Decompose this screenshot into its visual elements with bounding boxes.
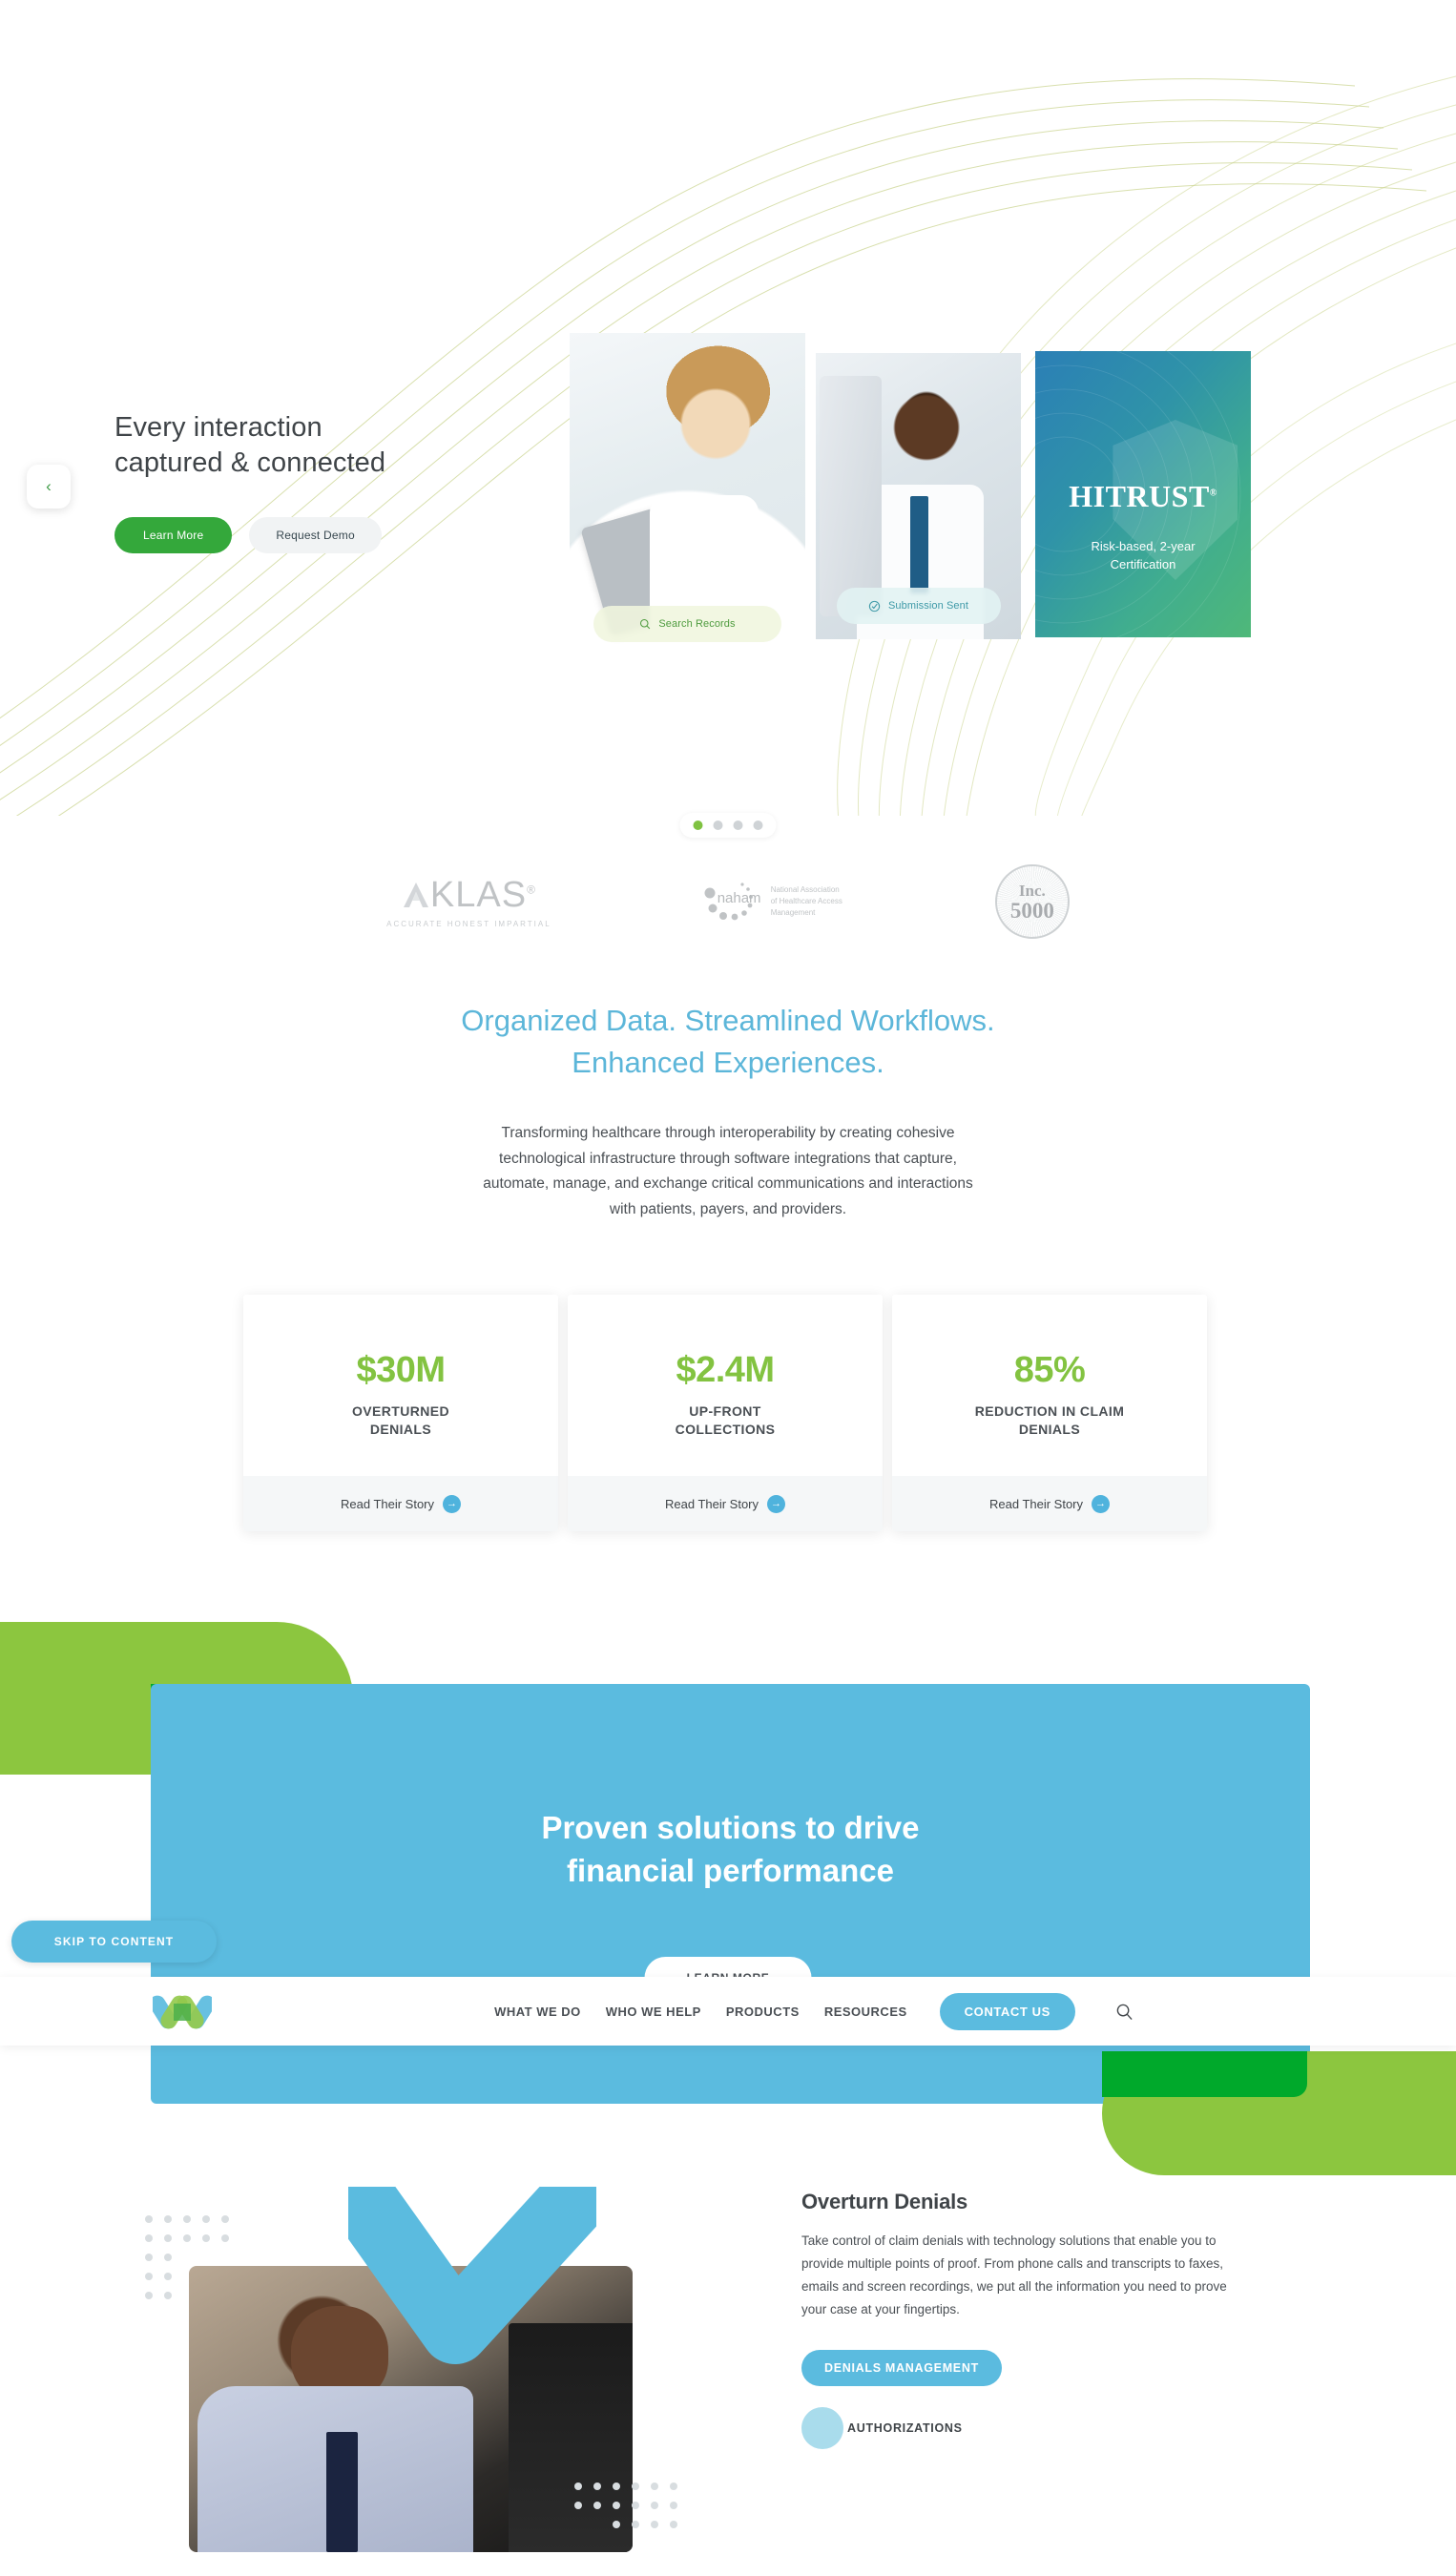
search-records-label: Search Records: [658, 618, 735, 630]
partner-logos: KLAS® ACCURATE HONEST IMPARTIAL naham: [0, 840, 1456, 964]
tag-authorizations-label: AUTHORIZATIONS: [819, 2421, 963, 2435]
stat-cards: $30M OVERTURNED DENIALS Read Their Story…: [243, 1295, 1207, 1531]
stat-card[interactable]: $30M OVERTURNED DENIALS Read Their Story…: [243, 1295, 558, 1531]
decorative-green-shape-bottom-right: [1102, 2051, 1307, 2097]
inc-line2: 5000: [1010, 901, 1054, 922]
homepage: Every interaction captured & connected L…: [0, 0, 1456, 2576]
overturn-denials-tags: DENIALS MANAGEMENT AUTHORIZATIONS: [801, 2350, 1236, 2449]
agent-tie: [326, 2432, 358, 2552]
stat-cta-label: Read Their Story: [341, 1497, 434, 1511]
skip-to-content-button[interactable]: SKIP TO CONTENT: [11, 1921, 217, 1963]
stat-number: 85%: [1014, 1350, 1086, 1391]
stat-card-body: 85% REDUCTION IN CLAIM DENIALS: [892, 1295, 1207, 1476]
monitor-edge: [820, 376, 882, 616]
stat-number: $30M: [356, 1350, 445, 1391]
section-headline: Organized Data. Streamlined Workflows. E…: [0, 1000, 1456, 1084]
klas-peak-icon: [402, 880, 430, 910]
naham-logo: naham National Association of Healthcare…: [704, 880, 842, 924]
inc5000-logo: Inc. 5000: [995, 864, 1070, 939]
search-icon[interactable]: [1115, 2003, 1134, 2021]
carousel-dot-2[interactable]: [714, 821, 723, 830]
tag-authorizations[interactable]: AUTHORIZATIONS: [801, 2407, 963, 2449]
nav-links: WHAT WE DO WHO WE HELP PRODUCTS RESOURCE…: [172, 1977, 1456, 2046]
stat-cta-label: Read Their Story: [665, 1497, 759, 1511]
stat-card-cta[interactable]: Read Their Story →: [243, 1476, 558, 1531]
hitrust-wordmark: HITRUST®: [1035, 479, 1251, 514]
search-icon: [639, 618, 651, 630]
stat-card-cta[interactable]: Read Their Story →: [568, 1476, 883, 1531]
naham-wordmark: naham: [718, 890, 761, 906]
nav-item-what-we-do[interactable]: WHAT WE DO: [494, 2005, 581, 2019]
checkmark-icon: [348, 2187, 596, 2397]
arrow-right-icon: →: [767, 1495, 785, 1513]
hitrust-name-text: HITRUST: [1069, 479, 1210, 513]
hero-buttons: Learn More Request Demo: [114, 517, 515, 553]
stat-card-body: $30M OVERTURNED DENIALS: [243, 1295, 558, 1476]
stat-label: REDUCTION IN CLAIM DENIALS: [975, 1402, 1125, 1439]
hero-text-block: Every interaction captured & connected L…: [114, 410, 515, 553]
stat-label: OVERTURNED DENIALS: [352, 1402, 449, 1439]
overturn-denials-text: Overturn Denials Take control of claim d…: [801, 2190, 1236, 2449]
klas-trademark: ®: [527, 883, 536, 896]
overturn-denials-body: Take control of claim denials with techn…: [801, 2230, 1236, 2321]
carousel-prev-button[interactable]: ‹: [27, 465, 71, 509]
nav-item-who-we-help[interactable]: WHO WE HELP: [606, 2005, 701, 2019]
naham-description: National Association of Healthcare Acces…: [771, 884, 842, 919]
check-circle-icon: [868, 600, 881, 613]
klas-text: KLAS: [430, 875, 527, 915]
contact-us-button[interactable]: CONTACT US: [940, 1993, 1075, 2030]
arrow-right-icon: →: [443, 1495, 461, 1513]
carousel-dot-4[interactable]: [754, 821, 763, 830]
hero-slide-submission-sent[interactable]: Submission Sent: [816, 353, 1021, 639]
stat-cta-label: Read Their Story: [989, 1497, 1083, 1511]
submission-sent-pill: Submission Sent: [837, 588, 1001, 624]
section-paragraph: Transforming healthcare through interope…: [346, 1121, 1110, 1223]
stat-card[interactable]: $2.4M UP-FRONT COLLECTIONS Read Their St…: [568, 1295, 883, 1531]
naham-dots-mark: naham: [704, 880, 759, 924]
arrow-right-icon: →: [1092, 1495, 1110, 1513]
decorative-dot-grid-bottom-right: [572, 2481, 697, 2547]
submission-sent-label: Submission Sent: [888, 600, 968, 612]
carousel-dots[interactable]: [680, 813, 777, 838]
stat-label: UP-FRONT COLLECTIONS: [676, 1402, 776, 1439]
hero-section: Every interaction captured & connected L…: [0, 0, 1456, 816]
hero-title: Every interaction captured & connected: [114, 410, 515, 481]
klas-tagline: ACCURATE HONEST IMPARTIAL: [386, 920, 551, 928]
nav-item-resources[interactable]: RESOURCES: [824, 2005, 907, 2019]
search-records-pill: Search Records: [593, 606, 782, 642]
carousel-dot-1[interactable]: [694, 821, 703, 830]
hitrust-subtitle: Risk-based, 2-year Certification: [1035, 538, 1251, 574]
main-navigation: WHAT WE DO WHO WE HELP PRODUCTS RESOURCE…: [0, 1977, 1456, 2046]
hitrust-card: HITRUST® Risk-based, 2-year Certificatio…: [1035, 351, 1251, 637]
klas-logo: KLAS® ACCURATE HONEST IMPARTIAL: [386, 875, 551, 928]
stat-card-body: $2.4M UP-FRONT COLLECTIONS: [568, 1295, 883, 1476]
hero-slide-search-records[interactable]: Search Records: [570, 333, 805, 657]
hero-slide-hitrust[interactable]: HITRUST® Risk-based, 2-year Certificatio…: [1035, 351, 1251, 637]
overturn-denials-title: Overturn Denials: [801, 2190, 1236, 2214]
klas-wordmark: KLAS®: [402, 875, 536, 916]
tag-denials-management[interactable]: DENIALS MANAGEMENT: [801, 2350, 1002, 2386]
inc-line1: Inc.: [1019, 882, 1046, 901]
nav-item-products[interactable]: PRODUCTS: [726, 2005, 800, 2019]
proven-solutions-title: Proven solutions to drive financial perf…: [151, 1807, 1310, 1892]
learn-more-button[interactable]: Learn More: [114, 517, 232, 553]
request-demo-button[interactable]: Request Demo: [249, 517, 381, 553]
stat-number: $2.4M: [676, 1350, 774, 1391]
stat-card-cta[interactable]: Read Their Story →: [892, 1476, 1207, 1531]
carousel-dot-3[interactable]: [734, 821, 743, 830]
hitrust-trademark: ®: [1210, 488, 1217, 498]
stat-card[interactable]: 85% REDUCTION IN CLAIM DENIALS Read Thei…: [892, 1295, 1207, 1531]
